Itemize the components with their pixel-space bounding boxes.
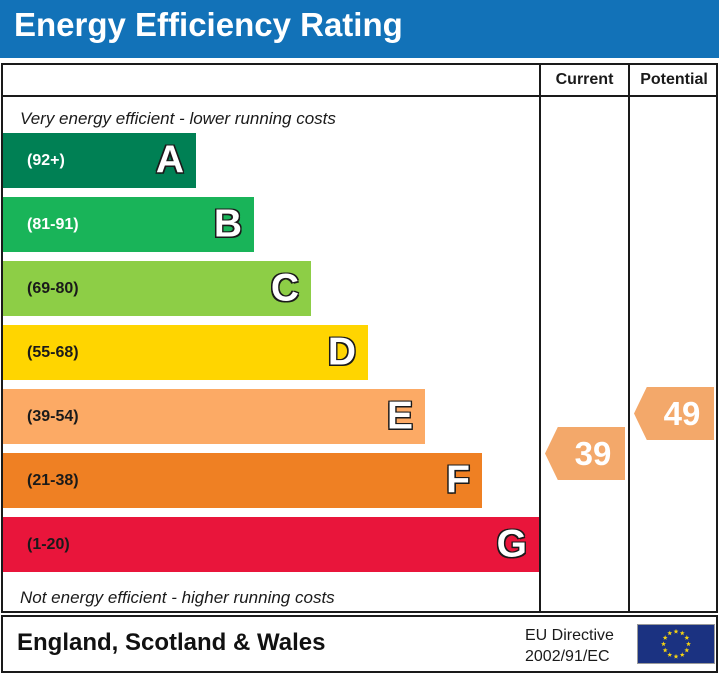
- caption-very-efficient: Very energy efficient - lower running co…: [20, 109, 336, 129]
- eu-flag-icon: [637, 624, 715, 664]
- column-divider-potential: [628, 65, 630, 611]
- footer-directive-line1: EU Directive: [525, 626, 614, 647]
- eu-star: [684, 648, 689, 653]
- band-f: (21-38)F: [3, 453, 482, 508]
- current-rating-value: 39: [559, 437, 612, 470]
- band-b: (81-91)B: [3, 197, 254, 252]
- column-divider-current: [539, 65, 541, 611]
- band-c: (69-80)C: [3, 261, 311, 316]
- eu-star: [667, 652, 672, 657]
- band-list: (92+)A(81-91)B(69-80)C(55-68)D(39-54)E(2…: [3, 133, 539, 583]
- eu-star: [674, 654, 679, 659]
- chart-frame: Current Potential Very energy efficient …: [1, 63, 718, 613]
- band-range-f: (21-38): [27, 472, 79, 490]
- potential-rating-value: 49: [648, 397, 701, 430]
- eu-star: [661, 641, 666, 646]
- band-range-b: (81-91): [27, 216, 79, 234]
- band-letter-e: E: [387, 396, 413, 435]
- footer-directive-line2: 2002/91/EC: [525, 647, 614, 668]
- column-header-current: Current: [541, 71, 628, 89]
- eu-star: [684, 635, 689, 640]
- footer-directive: EU Directive 2002/91/EC: [525, 626, 614, 668]
- band-letter-b: B: [214, 204, 242, 243]
- eu-star: [667, 631, 672, 636]
- eu-star: [674, 629, 679, 634]
- eu-star: [663, 648, 668, 653]
- chart-title-bar: Energy Efficiency Rating: [0, 0, 719, 58]
- caption-not-efficient: Not energy efficient - higher running co…: [20, 588, 335, 608]
- band-d: (55-68)D: [3, 325, 368, 380]
- band-letter-d: D: [328, 332, 356, 371]
- eu-star: [680, 631, 685, 636]
- column-header-potential: Potential: [630, 71, 718, 89]
- band-range-a: (92+): [27, 152, 65, 170]
- page-title: Energy Efficiency Rating: [14, 6, 403, 44]
- band-range-d: (55-68): [27, 344, 79, 362]
- band-letter-c: C: [271, 268, 299, 307]
- band-range-e: (39-54): [27, 408, 79, 426]
- band-letter-a: A: [156, 140, 184, 179]
- band-letter-f: F: [446, 460, 470, 499]
- band-a: (92+)A: [3, 133, 196, 188]
- eu-star: [680, 652, 685, 657]
- eu-star: [686, 641, 691, 646]
- potential-rating-marker: 49: [634, 387, 714, 440]
- current-rating-marker: 39: [545, 427, 625, 480]
- band-range-g: (1-20): [27, 536, 70, 554]
- eu-star: [663, 635, 668, 640]
- eu-flag-stars: [638, 625, 714, 663]
- band-g: (1-20)G: [3, 517, 539, 572]
- band-e: (39-54)E: [3, 389, 425, 444]
- chart-footer: England, Scotland & Wales EU Directive 2…: [1, 615, 718, 673]
- band-range-c: (69-80): [27, 280, 79, 298]
- footer-region-label: England, Scotland & Wales: [17, 629, 325, 657]
- energy-efficiency-rating-chart: Energy Efficiency Rating Current Potenti…: [0, 0, 719, 675]
- band-letter-g: G: [497, 524, 527, 563]
